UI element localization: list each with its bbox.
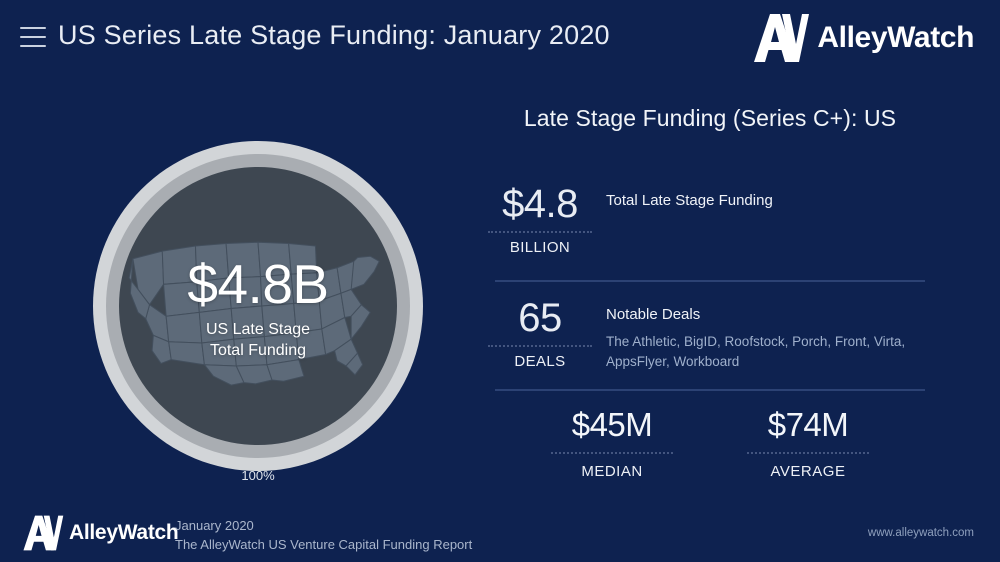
total-funding-value: $4.8: [480, 184, 600, 224]
brand-logo-header: AlleyWatch: [752, 12, 974, 64]
stat-total-funding: $4.8 BILLION Total Late Stage Funding: [480, 162, 940, 280]
footer: AlleyWatch January 2020 The AlleyWatch U…: [0, 500, 1000, 562]
deals-unit: DEALS: [480, 353, 600, 370]
average-label: AVERAGE: [733, 463, 883, 480]
deals-count-value: 65: [480, 298, 600, 338]
stats-panel: Late Stage Funding (Series C+): US $4.8 …: [480, 105, 940, 480]
average-value: $74M: [733, 407, 883, 443]
dotted-rule: [488, 231, 592, 233]
stat-notable-deals: 65 DEALS Notable Deals The Athletic, Big…: [480, 282, 940, 389]
total-funding-label: Total Late Stage Funding: [606, 192, 773, 209]
dotted-rule: [551, 452, 673, 454]
brand-name: AlleyWatch: [817, 21, 974, 55]
donut-percent-label: 100%: [93, 468, 423, 483]
median-value: $45M: [537, 407, 687, 443]
donut-caption-line2: Total Funding: [206, 340, 310, 362]
footer-url[interactable]: www.alleywatch.com: [868, 527, 974, 539]
donut-center-labels: $4.8B US Late Stage Total Funding: [119, 167, 397, 445]
panel-title: Late Stage Funding (Series C+): US: [480, 105, 940, 132]
slide-root: US Series Late Stage Funding: January 20…: [0, 0, 1000, 562]
alleywatch-aw-monogram-icon: [22, 514, 64, 552]
deals-label: Notable Deals: [606, 306, 906, 323]
footer-report-info: January 2020 The AlleyWatch US Venture C…: [175, 517, 472, 555]
total-funding-unit: BILLION: [480, 239, 600, 256]
stat-median-average-group: $45M MEDIAN $74M AVERAGE: [480, 391, 940, 480]
page-title: US Series Late Stage Funding: January 20…: [58, 20, 610, 51]
donut-caption-line1: US Late Stage: [206, 319, 310, 341]
alleywatch-aw-monogram-icon: [752, 12, 810, 64]
stat-body: Total Late Stage Funding: [600, 184, 773, 209]
stat-key: $4.8 BILLION: [480, 184, 600, 256]
median-label: MEDIAN: [537, 463, 687, 480]
stat-body: Notable Deals The Athletic, BigID, Roofs…: [600, 298, 906, 371]
hamburger-line: [20, 45, 46, 47]
donut-value: $4.8B: [187, 256, 328, 314]
hamburger-line: [20, 36, 46, 38]
header: US Series Late Stage Funding: January 20…: [0, 0, 1000, 82]
funding-donut-chart: $4.8B US Late Stage Total Funding: [93, 141, 423, 471]
stat-median: $45M MEDIAN: [537, 407, 687, 480]
stat-average: $74M AVERAGE: [733, 407, 883, 480]
hamburger-line: [20, 27, 46, 29]
stat-key: 65 DEALS: [480, 298, 600, 370]
footer-date: January 2020: [175, 517, 472, 536]
footer-report-title: The AlleyWatch US Venture Capital Fundin…: [175, 536, 472, 555]
donut-caption: US Late Stage Total Funding: [206, 319, 310, 362]
footer-brand-name: AlleyWatch: [69, 521, 178, 545]
dotted-rule: [488, 345, 592, 347]
brand-logo-footer: AlleyWatch: [22, 514, 178, 552]
donut-disc: $4.8B US Late Stage Total Funding: [119, 167, 397, 445]
dotted-rule: [747, 452, 869, 454]
deals-company-list: The Athletic, BigID, Roofstock, Porch, F…: [606, 332, 906, 371]
hamburger-menu-icon[interactable]: [20, 27, 46, 47]
